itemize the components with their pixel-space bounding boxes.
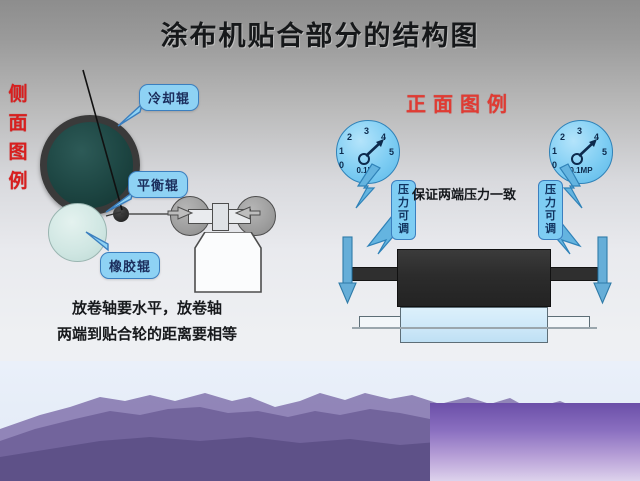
machine-stand (193, 232, 263, 294)
callout-cooling-roller[interactable]: 冷却辊 (139, 84, 199, 111)
dark-roller-shaft-right (547, 267, 598, 281)
vbox-left-char-1: 力 (393, 197, 414, 210)
pressure-adjustable-right[interactable]: 压 力 可 调 (538, 180, 563, 240)
pressure-gauge-left[interactable]: 0 1 2 3 4 5 0.1MP (336, 120, 400, 184)
callout-cooling-roller-label: 冷却辊 (148, 91, 190, 106)
pressure-gauge-right[interactable]: 0 1 2 3 4 5 0.1MP (549, 120, 613, 184)
callout-rubber-roller[interactable]: 橡胶辊 (100, 252, 160, 279)
gauge-left-unit: 0.1MP (336, 166, 400, 175)
purple-accent-band (430, 403, 640, 481)
vbox-right-char-0: 压 (540, 184, 561, 197)
slide-canvas: 涂布机贴合部分的结构图 侧 面 图 例 正面图例 冷却辊 平衡辊 橡 (0, 0, 640, 481)
side-view-label-char-3: 例 (5, 167, 31, 196)
vbox-right-char-1: 力 (540, 197, 561, 210)
vbox-left-char-3: 调 (393, 223, 414, 236)
callout-balance-roller[interactable]: 平衡辊 (128, 171, 188, 198)
base-line (352, 327, 597, 329)
page-title: 涂布机贴合部分的结构图 (0, 14, 640, 53)
vbox-left-char-2: 可 (393, 210, 414, 223)
vbox-left-char-0: 压 (393, 184, 414, 197)
dark-roller-body (397, 249, 551, 307)
instruction-line-1: 放卷轴要水平，放卷轴 (22, 296, 272, 322)
gauge-right-unit: 0.1MP (549, 166, 613, 175)
cooling-roller-shape (40, 115, 140, 215)
vbox-right-char-3: 调 (540, 223, 561, 236)
callout-rubber-roller-label: 橡胶辊 (109, 259, 151, 274)
balance-roller-shape (113, 206, 129, 222)
vbox-right-char-2: 可 (540, 210, 561, 223)
front-view-label: 正面图例 (406, 88, 514, 117)
side-view-label-char-0: 侧 (5, 80, 31, 109)
center-note: 保证两端压力一致 (412, 184, 516, 203)
side-hub (212, 203, 229, 231)
instruction-line-2: 两端到贴合轮的距离要相等 (22, 322, 272, 348)
blue-roller-body (400, 307, 548, 343)
side-view-label-char-1: 面 (5, 109, 31, 138)
side-view-label-char-2: 图 (5, 138, 31, 167)
side-view-label: 侧 面 图 例 (5, 80, 31, 196)
instruction-paragraph: 放卷轴要水平，放卷轴 两端到贴合轮的距离要相等 (22, 296, 272, 348)
callout-balance-roller-label: 平衡辊 (137, 178, 179, 193)
dark-roller-shaft-left (352, 267, 402, 281)
rubber-roller-shape (48, 203, 107, 262)
